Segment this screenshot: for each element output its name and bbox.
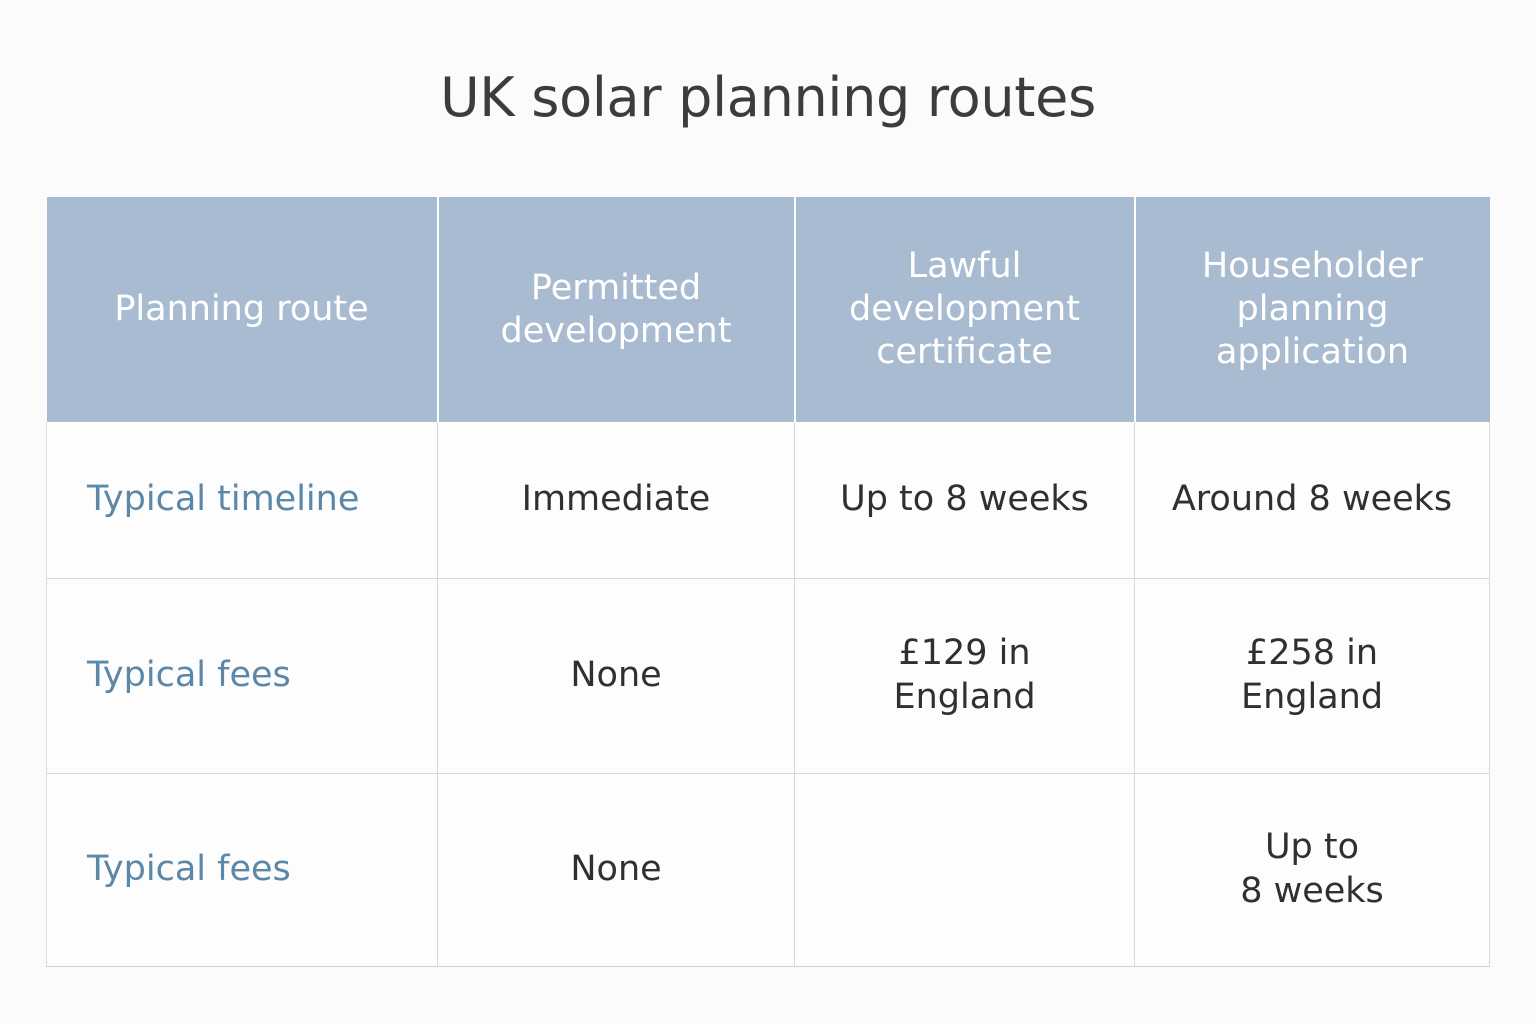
cell-timeline-lawful-development-certificate: Up to 8 weeks [795,422,1135,578]
table-header-row: Planning route Permitted development Law… [47,197,1490,422]
cell-timeline-permitted-development: Immediate [438,422,795,578]
row-label-typical-timeline: Typical timeline [47,422,438,578]
cell-fees2-lawful-development-certificate [795,773,1135,966]
cell-fees-householder-planning-application: £258 in England [1135,578,1490,773]
planning-routes-table: Planning route Permitted development Law… [46,197,1490,967]
column-header-permitted-development: Permitted development [438,197,795,422]
column-header-lawful-development-certificate: Lawful development certificate [795,197,1135,422]
row-label-typical-fees-1: Typical fees [47,578,438,773]
column-header-planning-route: Planning route [47,197,438,422]
cell-fees-lawful-development-certificate: £129 in England [795,578,1135,773]
cell-fees2-permitted-development: None [438,773,795,966]
cell-fees2-householder-planning-application: Up to 8 weeks [1135,773,1490,966]
cell-fees-permitted-development: None [438,578,795,773]
column-header-householder-planning-application: Householder planning application [1135,197,1490,422]
table-row: Typical fees None Up to 8 weeks [47,773,1490,966]
table-row: Typical fees None £129 in England £258 i… [47,578,1490,773]
row-label-typical-fees-2: Typical fees [47,773,438,966]
cell-timeline-householder-planning-application: Around 8 weeks [1135,422,1490,578]
page-title: UK solar planning routes [0,68,1536,127]
table-row: Typical timeline Immediate Up to 8 weeks… [47,422,1490,578]
